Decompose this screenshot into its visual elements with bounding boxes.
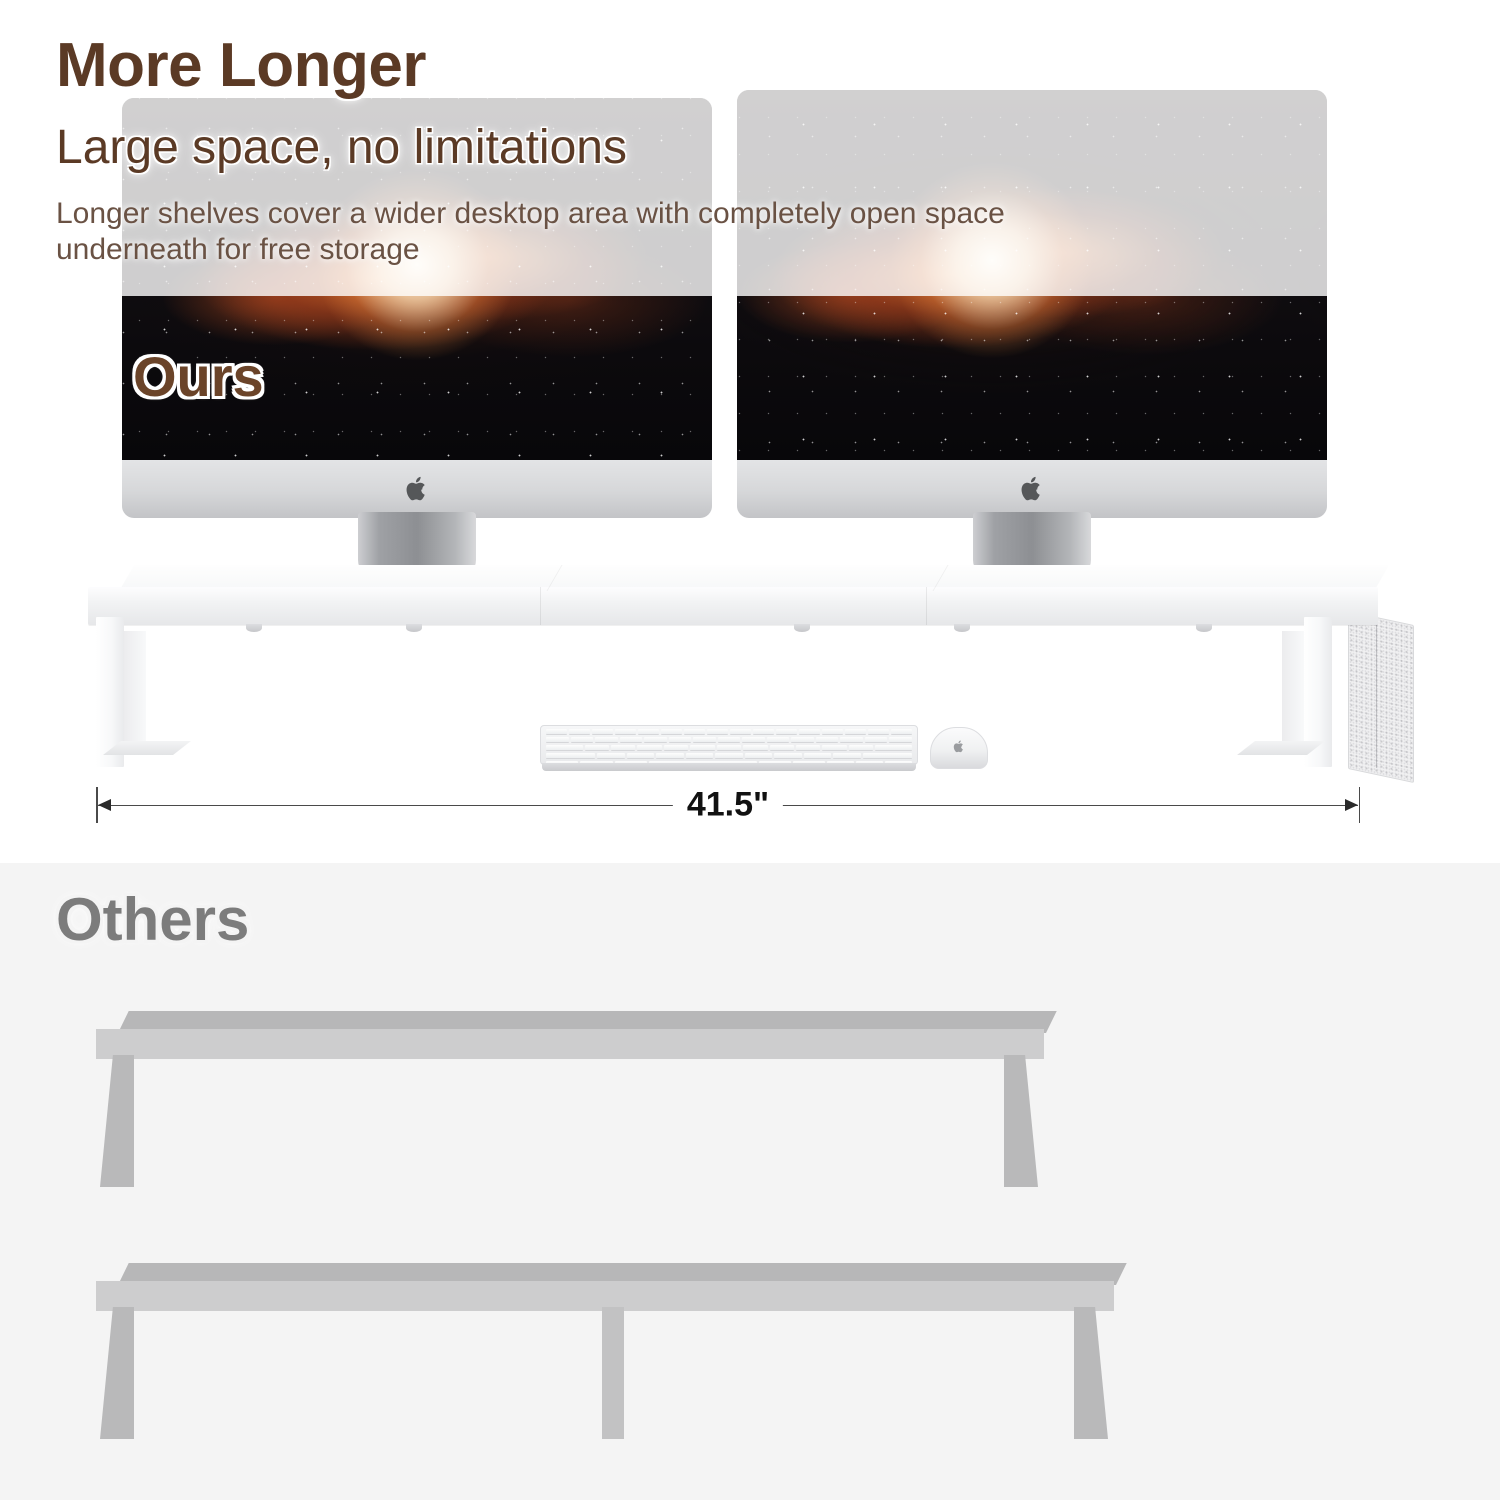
riser-front-face [88,587,1378,625]
monitor-left-chin [122,460,712,518]
stand-front-face [96,1029,1044,1059]
page-headline: More Longer [56,30,426,101]
riser-foot [1196,624,1212,632]
riser-leg-inner [1282,631,1304,749]
riser-foot [246,624,262,632]
riser-foot [794,624,810,632]
riser-seam [926,587,927,625]
competitor-stand-2 [96,1263,1114,1453]
others-section: Others 35.4in 38.6in [0,863,1500,1500]
riser-leg-shoe [1237,741,1325,755]
page-subheadline: Large space, no limitations [56,120,627,175]
stand-leg-center [602,1307,624,1439]
stand-leg-left [100,1307,134,1439]
ours-badge-label: Ours [133,344,264,409]
riser-leg-shoe [103,741,191,755]
dimension-ours: 41.5" [96,785,1360,825]
stand-leg-right [1004,1055,1038,1187]
dimension-tick-right [1359,787,1361,823]
apple-logo-icon [1021,476,1043,502]
ours-section: 41.5" More Longer Large space, no limita… [0,0,1500,863]
riser-seam [540,587,541,625]
riser-leg-inner [124,631,146,749]
stand-leg-left [100,1055,134,1187]
competitor-stand-1 [96,1011,1044,1201]
ours-monitor-riser [88,565,1378,785]
dimension-label-ours: 41.5" [673,786,783,825]
page-body-copy: Longer shelves cover a wider desktop are… [56,196,1016,268]
riser-foot [406,624,422,632]
riser-leg-right [1304,617,1332,767]
stand-leg-right [1074,1307,1108,1439]
others-title: Others [56,885,249,954]
riser-leg-left [96,617,124,767]
dimension-arrow-right [1345,799,1358,811]
apple-logo-icon [406,476,428,502]
riser-foot [954,624,970,632]
monitor-right-chin [737,460,1327,518]
dimension-arrow-left [98,799,111,811]
